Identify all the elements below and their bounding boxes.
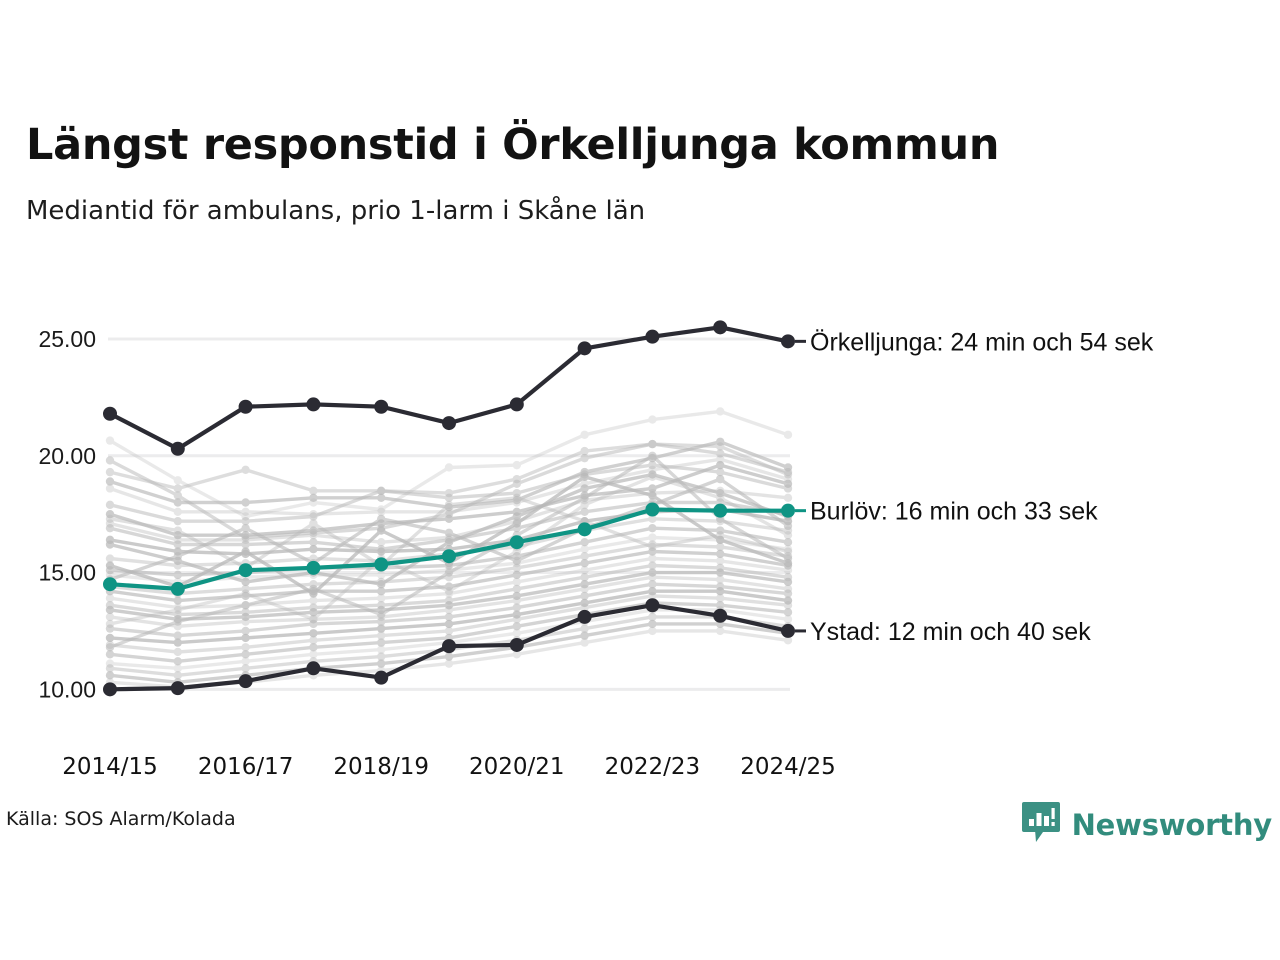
background-series-point [377, 487, 385, 495]
x-tick-label: 2020/21 [469, 754, 565, 780]
series-point [645, 330, 659, 344]
background-series-point [106, 643, 114, 651]
background-series-point [309, 529, 317, 537]
background-series-point [174, 606, 182, 614]
background-series-point [106, 436, 114, 444]
series-point [645, 502, 659, 516]
x-tick-label: 2024/25 [740, 754, 836, 780]
chart-footer: Källa: SOS Alarm/Kolada Newsworthy [0, 800, 1280, 870]
series-point [103, 682, 117, 696]
background-series-point [174, 508, 182, 516]
background-series-point [648, 491, 656, 499]
background-series-point [309, 545, 317, 553]
background-series-point [513, 461, 521, 469]
series-point [374, 400, 388, 414]
background-series-point [716, 438, 724, 446]
background-series-point [648, 524, 656, 532]
series-point [578, 341, 592, 355]
background-series-point [513, 480, 521, 488]
background-series-point [648, 415, 656, 423]
background-series-point [445, 501, 453, 509]
background-series-point [580, 494, 588, 502]
background-series-point [241, 634, 249, 642]
background-series-point [716, 475, 724, 483]
background-series-point [174, 526, 182, 534]
background-series-point [445, 659, 453, 667]
series-point [781, 504, 795, 518]
background-series-point [174, 476, 182, 484]
background-series-point [309, 589, 317, 597]
series-line [110, 327, 788, 449]
background-series-point [241, 524, 249, 532]
series-point [374, 671, 388, 685]
background-series-point [580, 638, 588, 646]
background-series-point [241, 533, 249, 541]
background-series-point [241, 508, 249, 516]
series-point [510, 535, 524, 549]
background-series-point [648, 473, 656, 481]
newsworthy-logo[interactable]: Newsworthy [1021, 800, 1272, 849]
background-series-point [716, 461, 724, 469]
y-tick-label: 10.00 [38, 676, 96, 702]
x-axis-tick-labels: 2014/152016/172018/192020/212022/232024/… [62, 754, 836, 780]
series-point [306, 661, 320, 675]
background-series-point [784, 531, 792, 539]
background-series-point [241, 466, 249, 474]
background-series-point [648, 461, 656, 469]
background-series-point [784, 559, 792, 567]
source-note: Källa: SOS Alarm/Kolada [6, 808, 236, 830]
series-point [578, 610, 592, 624]
background-series-point [241, 547, 249, 555]
background-series-point [716, 627, 724, 635]
series-point [713, 320, 727, 334]
y-axis-tick-labels: 25.0020.0015.0010.00 [38, 326, 96, 702]
background-series-point [241, 498, 249, 506]
background-series-point [241, 617, 249, 625]
series-point [645, 598, 659, 612]
background-series-point [580, 454, 588, 462]
series-point [306, 397, 320, 411]
background-series-point [106, 515, 114, 523]
background-series-point [580, 431, 588, 439]
background-series-point [513, 494, 521, 502]
background-series-point [784, 431, 792, 439]
background-series-point [377, 515, 385, 523]
series-point [442, 549, 456, 563]
series-point [171, 681, 185, 695]
series-label: Burlöv: 16 min och 33 sek [810, 498, 1098, 526]
series-point [103, 407, 117, 421]
page-title: Längst responstid i Örkelljunga kommun [26, 118, 1246, 172]
series-point [171, 582, 185, 596]
background-series-point [648, 543, 656, 551]
y-tick-label: 15.00 [38, 560, 96, 586]
series-point [442, 416, 456, 430]
background-series-point [513, 519, 521, 527]
chart-page: Längst responstid i Örkelljunga kommun M… [0, 0, 1280, 960]
background-series-point [513, 557, 521, 565]
series-point [103, 577, 117, 591]
logo-wordmark: Newsworthy [1072, 808, 1272, 842]
x-tick-label: 2016/17 [198, 754, 294, 780]
series-point [713, 609, 727, 623]
chart-header: Längst responstid i Örkelljunga kommun M… [26, 118, 1246, 228]
background-series-point [716, 449, 724, 457]
background-series-point [106, 524, 114, 532]
background-series-point [377, 580, 385, 588]
series-point [171, 442, 185, 456]
background-series-point [445, 538, 453, 546]
background-series-point [716, 494, 724, 502]
background-series-point [784, 468, 792, 476]
background-series-point [580, 473, 588, 481]
series-point [578, 522, 592, 536]
background-series-point [648, 452, 656, 460]
background-series-point [106, 620, 114, 628]
background-series-point [716, 531, 724, 539]
series-label: Örkelljunga: 24 min och 54 sek [810, 328, 1154, 356]
x-tick-label: 2014/15 [62, 754, 158, 780]
series-label-group: Örkelljunga: 24 min och 54 sekBurlöv: 16… [795, 328, 1154, 646]
background-series-point [648, 627, 656, 635]
background-series-point [174, 517, 182, 525]
series-point [374, 557, 388, 571]
background-series-point [784, 522, 792, 530]
page-subtitle: Mediantid för ambulans, prio 1-larm i Sk… [26, 172, 1246, 228]
y-tick-label: 25.00 [38, 326, 96, 352]
background-series-point [309, 519, 317, 527]
background-series-point [784, 494, 792, 502]
background-series-point [241, 578, 249, 586]
series-point [442, 639, 456, 653]
background-series-point [174, 648, 182, 656]
background-series-point [174, 491, 182, 499]
y-tick-label: 20.00 [38, 443, 96, 469]
background-series-point [445, 529, 453, 537]
background-series-point [241, 589, 249, 597]
background-series-point [445, 463, 453, 471]
background-series-point [241, 601, 249, 609]
background-series-point [106, 468, 114, 476]
series-point [239, 400, 253, 414]
series-point [510, 397, 524, 411]
background-series-point [784, 547, 792, 555]
background-series-point [377, 610, 385, 618]
background-series-point [716, 407, 724, 415]
series-point [306, 561, 320, 575]
background-series-point [445, 587, 453, 595]
background-series-point [445, 510, 453, 518]
background-series-point [106, 561, 114, 569]
highlighted-series-örkelljunga[interactable] [103, 320, 795, 455]
bar-chart-speech-bubble-icon [1021, 800, 1061, 849]
background-series-point [174, 552, 182, 560]
background-series-point [309, 494, 317, 502]
background-series-point [580, 484, 588, 492]
x-tick-label: 2018/19 [333, 754, 429, 780]
background-series-point [309, 615, 317, 623]
background-series-point [174, 638, 182, 646]
series-point [510, 638, 524, 652]
series-point [239, 563, 253, 577]
background-series-point [106, 501, 114, 509]
series-point [781, 334, 795, 348]
series-label: Ystad: 12 min och 40 sek [810, 618, 1091, 646]
background-series-point [784, 480, 792, 488]
series-point [239, 674, 253, 688]
background-series-point [106, 540, 114, 548]
series-point [781, 624, 795, 638]
series-point [713, 504, 727, 518]
background-series-point [106, 484, 114, 492]
background-series-point [648, 440, 656, 448]
x-tick-label: 2022/23 [605, 754, 701, 780]
background-series-point [106, 456, 114, 464]
background-series-point [377, 526, 385, 534]
background-series-point [174, 617, 182, 625]
background-series-point [445, 568, 453, 576]
chart-plot-area: 25.0020.0015.0010.00 Örkelljunga: 24 min… [0, 282, 1280, 802]
line-chart-svg: 25.0020.0015.0010.00 Örkelljunga: 24 min… [0, 282, 1280, 802]
